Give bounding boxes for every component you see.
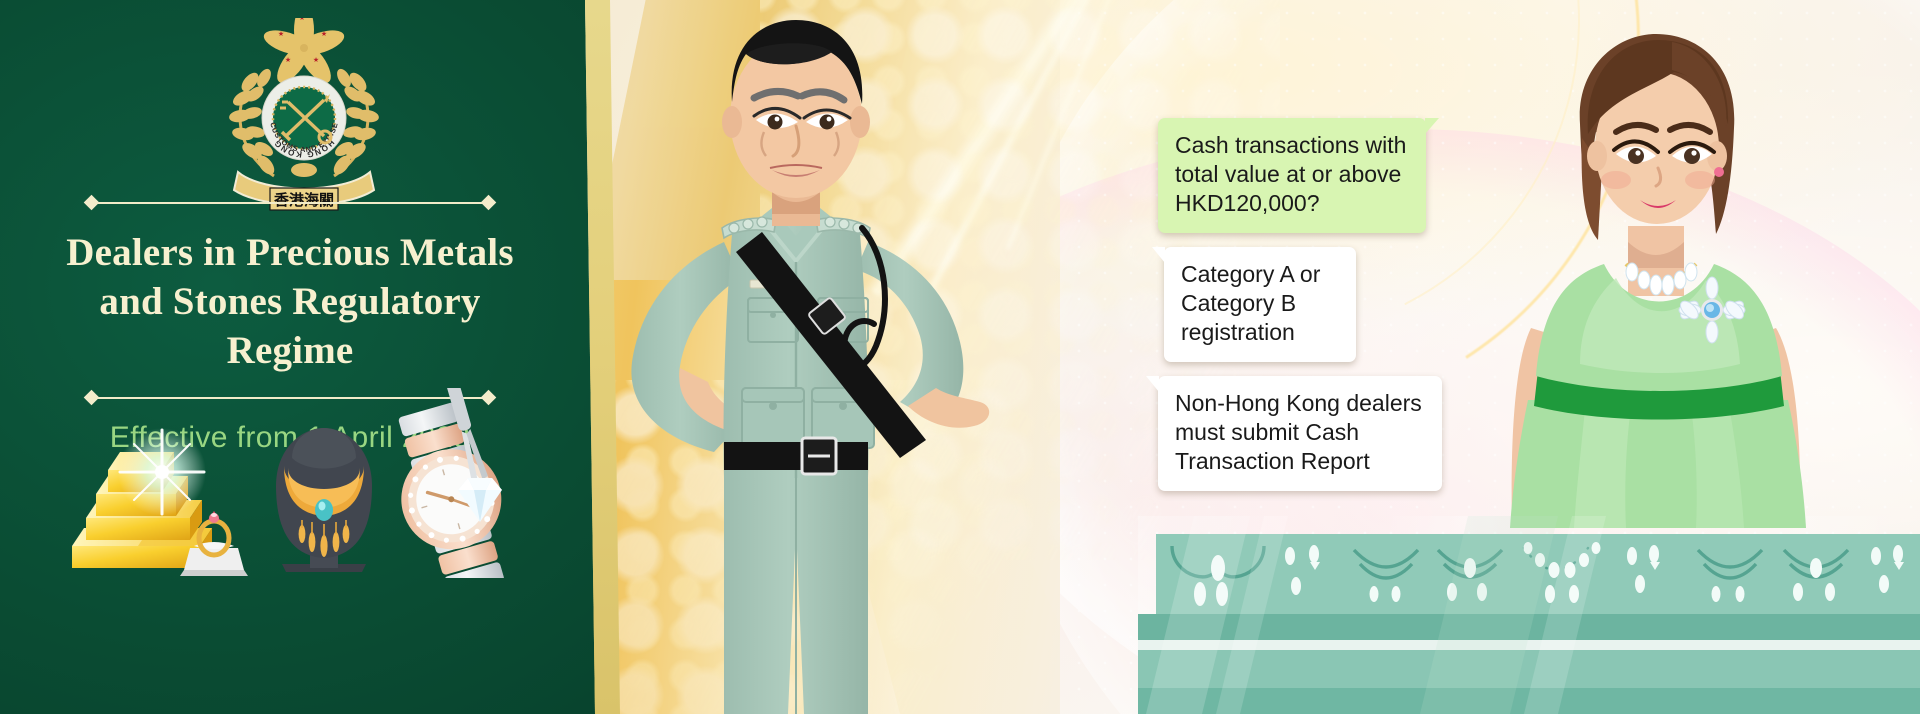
divider-top [85, 196, 495, 210]
svg-text:★: ★ [299, 18, 305, 22]
callout-tail [1146, 376, 1159, 392]
hong-kong-customs-and-excise-emblem: ★ ★ ★ ★ ★ [224, 18, 384, 218]
luxury-watch-icon [378, 396, 525, 578]
svg-text:★: ★ [278, 30, 284, 38]
page-title-line-2: and Stones Regulatory Regime [60, 278, 520, 376]
callout-text: Cash transactions with total value at or… [1175, 132, 1406, 216]
svg-text:★: ★ [285, 56, 291, 64]
waist-belt [724, 442, 868, 470]
gold-necklace-bust-icon [276, 428, 372, 572]
callout-text: Non-Hong Kong dealers must submit Cash T… [1175, 390, 1422, 474]
jewellery-customer [1476, 28, 1896, 528]
callout-text: Category A or Category B registration [1181, 261, 1320, 345]
page-title-line-1: Dealers in Precious Metals [60, 229, 520, 278]
jewellery-display-counter [1138, 516, 1920, 714]
callout-registration-category[interactable]: Category A or Category B registration [1164, 247, 1356, 362]
callout-non-hk-dealer-report[interactable]: Non-Hong Kong dealers must submit Cash T… [1158, 376, 1442, 491]
callout-cash-threshold[interactable]: Cash transactions with total value at or… [1158, 118, 1426, 233]
dpms-regulatory-regime-banner: ★ ★ ★ ★ ★ [0, 0, 1920, 714]
gold-bars-icon [72, 428, 212, 568]
divider-diamond-right [481, 195, 497, 211]
svg-text:★: ★ [313, 56, 319, 64]
page-title: Dealers in Precious Metals and Stones Re… [60, 229, 520, 375]
earring-icon [1714, 167, 1724, 177]
customs-officer [556, 6, 1036, 714]
callout-tail [1152, 247, 1165, 263]
callout-tail [1425, 118, 1439, 134]
divider-line [94, 202, 486, 204]
precious-goods-illustration [62, 388, 532, 578]
svg-text:★: ★ [321, 30, 327, 38]
